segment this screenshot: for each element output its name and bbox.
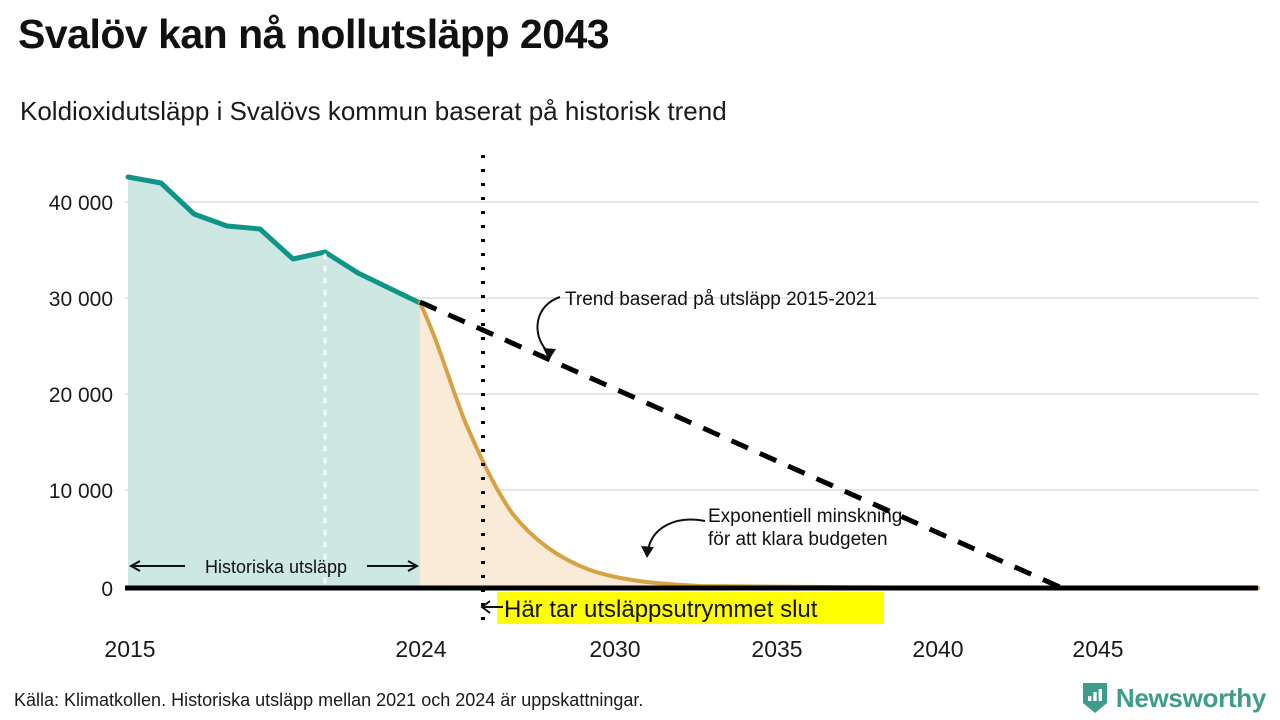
y-tick-label: 10 000 <box>49 480 113 503</box>
y-axis-ticks: 40 000 30 000 20 000 10 000 0 <box>49 192 113 601</box>
chart-page: Svalöv kan nå nollutsläpp 2043 Koldioxid… <box>0 0 1280 720</box>
exponential-annotation-line1: Exponentiell minskning <box>708 506 902 527</box>
trend-annotation-label: Trend baserad på utsläpp 2015-2021 <box>565 289 877 310</box>
source-note: Källa: Klimatkollen. Historiska utsläpp … <box>14 690 643 711</box>
historic-span-label: Historiska utsläpp <box>205 557 347 577</box>
budget-end-label: Här tar utsläppsutrymmet slut <box>504 596 818 623</box>
exponential-annotation-line2: för att klara budgeten <box>708 529 888 550</box>
y-tick-label: 40 000 <box>49 192 113 215</box>
x-tick-label: 2024 <box>395 636 446 662</box>
newsworthy-pin-icon <box>1081 682 1109 714</box>
y-tick-label: 30 000 <box>49 288 113 311</box>
exponential-annotation-arrowhead <box>641 546 654 558</box>
newsworthy-wordmark: Newsworthy <box>1116 685 1266 711</box>
y-tick-label: 0 <box>101 578 113 601</box>
x-axis-ticks: 2015 2024 2030 2035 2040 2045 <box>104 636 1123 662</box>
y-tick-label: 20 000 <box>49 384 113 407</box>
x-tick-label: 2040 <box>912 636 963 662</box>
newsworthy-logo: Newsworthy <box>1081 682 1266 714</box>
exponential-annotation-arrow <box>648 520 705 550</box>
x-tick-label: 2035 <box>751 636 802 662</box>
x-tick-label: 2030 <box>589 636 640 662</box>
chart-container: 40 000 30 000 20 000 10 000 0 2015 2024 … <box>0 0 1280 720</box>
x-tick-label: 2015 <box>104 636 155 662</box>
emissions-area-chart: 40 000 30 000 20 000 10 000 0 2015 2024 … <box>0 0 1280 720</box>
trend-annotation-arrow <box>537 297 560 353</box>
x-tick-label: 2045 <box>1072 636 1123 662</box>
